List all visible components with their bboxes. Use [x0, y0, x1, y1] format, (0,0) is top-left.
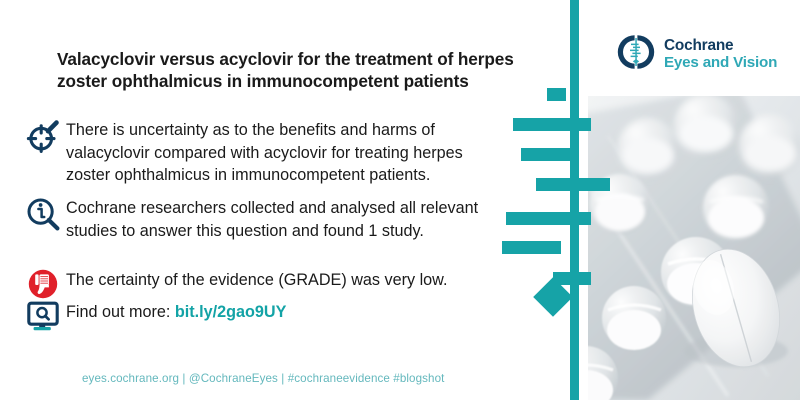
key-point-text: Cochrane researchers collected and analy… — [66, 196, 486, 242]
key-point-row: There is uncertainty as to the benefits … — [20, 118, 520, 187]
key-point-row: Cochrane researchers collected and analy… — [20, 196, 490, 242]
page-title: Valacyclovir versus acyclovir for the tr… — [57, 48, 522, 92]
forest-plot-spine — [570, 0, 579, 400]
key-point-text: The certainty of the evidence (GRADE) wa… — [66, 268, 447, 292]
blister-pack-pills-photo — [588, 96, 800, 400]
logo-line-eyes-and-vision: Eyes and Vision — [664, 55, 777, 71]
photo-illustration — [588, 96, 800, 400]
find-out-more-text: Find out more: bit.ly/2gao9UY — [66, 300, 286, 324]
cochrane-eyes-and-vision-logo: Cochrane Eyes and Vision — [617, 33, 777, 76]
monitor-search-icon — [20, 300, 66, 345]
find-out-more-row: Find out more: bit.ly/2gao9UY — [20, 300, 500, 345]
footer-credits: eyes.cochrane.org | @CochraneEyes | #coc… — [82, 372, 444, 385]
logo-wordmark: Cochrane Eyes and Vision — [664, 38, 777, 71]
magnifier-info-icon — [20, 196, 66, 241]
cochrane-logo-mark — [617, 33, 655, 76]
logo-line-cochrane: Cochrane — [664, 38, 777, 55]
blogshot-link[interactable]: bit.ly/2gao9UY — [175, 303, 287, 321]
content-column: Valacyclovir versus acyclovir for the tr… — [0, 0, 570, 400]
find-out-more-label: Find out more: — [66, 303, 175, 321]
blogshot-canvas: Cochrane Eyes and Vision Valacyclovir ve… — [0, 0, 800, 400]
target-crosshair-icon — [20, 118, 66, 163]
key-point-text: There is uncertainty as to the benefits … — [66, 118, 511, 187]
